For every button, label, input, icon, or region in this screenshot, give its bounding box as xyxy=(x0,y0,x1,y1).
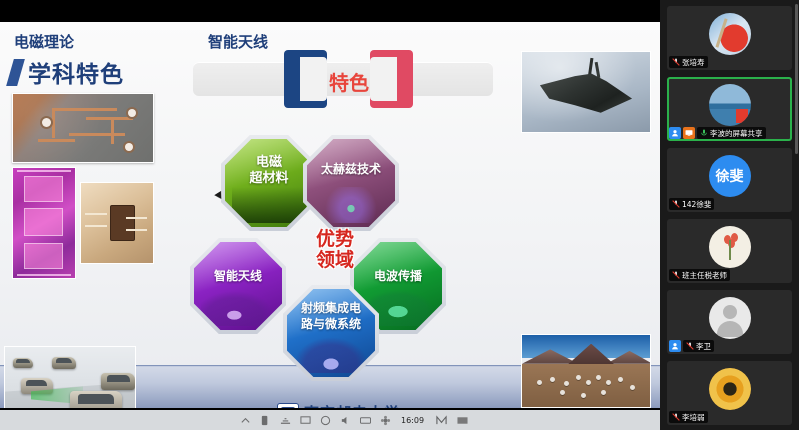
monitor-icon[interactable] xyxy=(300,415,311,426)
shield-icon xyxy=(277,403,299,409)
name-chip: 班主任税老师 xyxy=(669,269,730,281)
shared-screen-area[interactable]: 学科特色 xyxy=(0,0,660,430)
mic-muted-icon xyxy=(672,200,680,208)
presentation-slide: 学科特色 xyxy=(0,22,660,408)
photo-telescope-array xyxy=(521,334,651,408)
keyboard-icon[interactable] xyxy=(360,415,371,426)
avatar xyxy=(709,226,751,268)
participant-rail[interactable]: 张培寿 李波的屏幕共享 徐斐 xyxy=(660,0,799,430)
page-title: 学科特色 xyxy=(28,55,124,89)
banner-left-label: 电磁理论 xyxy=(14,31,74,52)
screen-share-badge xyxy=(683,127,695,139)
flower-icon[interactable] xyxy=(380,415,391,426)
participant-tile[interactable]: 李波的屏幕共享 xyxy=(667,77,792,141)
taskbar-clock[interactable]: 16:09 xyxy=(401,416,424,425)
window-icon[interactable] xyxy=(457,415,468,426)
participant-name: 李卫 xyxy=(696,341,711,352)
octagon-label-smart-antenna: 智能天线 xyxy=(214,268,262,284)
participant-badges: 李培弱 xyxy=(669,411,708,423)
octagon-art-chip-icon xyxy=(232,187,306,224)
photo-die-layout xyxy=(12,167,76,279)
octagon-label-radio-propagation: 电波传播 xyxy=(374,268,422,284)
participant-tile[interactable]: 徐斐 142徐斐 xyxy=(667,148,792,212)
participant-tile[interactable]: 李卫 xyxy=(667,290,792,354)
participant-badges: 张培寿 xyxy=(669,56,708,68)
host-badge xyxy=(669,340,681,352)
photo-module-package xyxy=(80,182,154,264)
host-person-icon xyxy=(671,129,679,137)
avatar: 徐斐 xyxy=(709,155,751,197)
octagon-art-dish-icon xyxy=(294,337,368,374)
avatar xyxy=(709,13,751,55)
participant-name: 张培寿 xyxy=(682,57,705,68)
octagon-label-metamaterial: 电磁 超材料 xyxy=(249,155,288,187)
diagram-center-label: 优势 领域 xyxy=(296,229,374,271)
octagon-rfic[interactable]: 射频集成电 路与微系统 xyxy=(287,289,375,377)
windows-taskbar[interactable]: 16:09 xyxy=(0,410,660,430)
avatar xyxy=(709,297,751,339)
mic-on-icon xyxy=(700,129,708,137)
photo-stealth-aircraft xyxy=(521,51,651,133)
title-accent-bar-icon xyxy=(6,59,25,86)
avatar-initials: 徐斐 xyxy=(709,155,751,197)
up-chevron-icon[interactable] xyxy=(240,415,251,426)
page-title-group: 学科特色 xyxy=(10,55,124,89)
banner-center-label: 特色 xyxy=(314,67,384,96)
mic-muted-icon xyxy=(672,413,680,421)
battery-icon[interactable] xyxy=(260,415,271,426)
host-badge xyxy=(669,127,681,139)
chat-icon[interactable] xyxy=(320,415,331,426)
octagon-label-rfic: 射频集成电 路与微系统 xyxy=(301,300,361,332)
mic-muted-icon xyxy=(672,271,680,279)
participant-badges: 李波的屏幕共享 xyxy=(669,127,766,139)
participant-badges: 142徐斐 xyxy=(669,198,714,210)
participant-badges: 李卫 xyxy=(669,340,714,352)
avatar xyxy=(709,84,751,126)
share-top-black-bar xyxy=(0,0,660,22)
network-icon[interactable] xyxy=(280,415,291,426)
participant-tile[interactable]: 张培寿 xyxy=(667,6,792,70)
photo-pcb-board xyxy=(12,93,154,163)
participant-name: 李波的屏幕共享 xyxy=(710,128,763,139)
avatar xyxy=(709,368,751,410)
banner-right-label: 智能天线 xyxy=(208,31,268,52)
screen-root: 学科特色 xyxy=(0,0,799,430)
participant-name: 142徐斐 xyxy=(682,199,711,210)
taskbar-tray-icons[interactable] xyxy=(240,415,391,426)
name-chip: 李培弱 xyxy=(669,411,708,423)
volume-icon[interactable] xyxy=(340,415,351,426)
name-chip: 142徐斐 xyxy=(669,198,714,210)
octagon-label-terahertz: 太赫兹技术 xyxy=(321,161,381,177)
screen-share-icon xyxy=(685,129,693,137)
logo-name-cn: 南京邮电大学 xyxy=(304,402,400,408)
octagon-terahertz[interactable]: 太赫兹技术 xyxy=(307,139,395,227)
photo-vehicle-radar xyxy=(4,346,136,408)
participant-name: 班主任税老师 xyxy=(682,270,727,281)
mic-muted-icon xyxy=(672,58,680,66)
octagon-art-antenna-icon xyxy=(201,290,275,327)
taskbar-right-icons[interactable] xyxy=(436,415,468,426)
university-logo: 南京邮电大学 Nanjing University of Posts and T… xyxy=(277,402,400,408)
participant-name: 李培弱 xyxy=(682,412,705,423)
rail-scrollbar[interactable] xyxy=(795,4,798,154)
name-chip: 李波的屏幕共享 xyxy=(697,127,766,139)
name-chip: 张培寿 xyxy=(669,56,708,68)
ime-icon[interactable] xyxy=(436,415,447,426)
name-chip: 李卫 xyxy=(683,340,714,352)
mic-muted-icon xyxy=(686,342,694,350)
participant-tile[interactable]: 李培弱 xyxy=(667,361,792,425)
host-person-icon xyxy=(671,342,679,350)
octagon-art-burst-icon xyxy=(314,187,388,224)
participant-badges: 班主任税老师 xyxy=(669,269,730,281)
participant-tile[interactable]: 班主任税老师 xyxy=(667,219,792,283)
